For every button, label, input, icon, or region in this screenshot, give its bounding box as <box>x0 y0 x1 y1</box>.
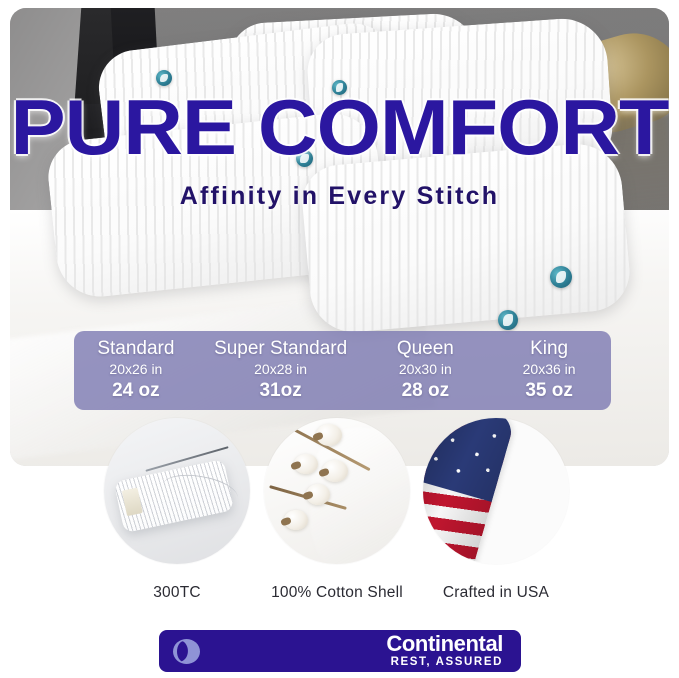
cotton-boll-icon <box>264 418 410 564</box>
flag-shading <box>423 418 516 564</box>
pillow <box>299 140 632 335</box>
pillow-brand-tag-icon <box>156 70 172 86</box>
pillow-brand-tag-icon <box>332 80 347 95</box>
size-dimensions: 20x30 in <box>365 359 485 379</box>
feature-label: Crafted in USA <box>423 584 569 602</box>
pillow-brand-tag-icon <box>296 150 313 167</box>
size-name: Standard <box>76 339 196 359</box>
size-option-standard: Standard 20x26 in 24 oz <box>74 339 198 401</box>
size-name: Super Standard <box>200 339 362 359</box>
size-options-bar: Standard 20x26 in 24 oz Super Standard 2… <box>74 331 611 410</box>
size-dimensions: 20x36 in <box>489 359 609 379</box>
cotton-boll <box>316 424 342 446</box>
size-weight: 35 oz <box>489 380 609 402</box>
cotton-boll <box>322 460 348 482</box>
flag-drape <box>423 418 516 564</box>
feature-label: 100% Cotton Shell <box>264 584 410 602</box>
brand-footer-bar: Continental REST, ASSURED <box>159 630 521 672</box>
feature-item-cotton-shell: 100% Cotton Shell <box>264 418 410 602</box>
size-dimensions: 20x26 in <box>76 359 196 379</box>
brand-tagline: REST, ASSURED <box>386 655 503 670</box>
cotton-boll <box>306 484 330 505</box>
feature-item-made-in-usa: Crafted in USA <box>423 418 569 602</box>
spool-label <box>122 487 143 516</box>
cotton-boll <box>284 510 308 530</box>
size-weight: 28 oz <box>365 380 485 402</box>
pillow-brand-tag-icon <box>498 310 518 330</box>
size-option-queen: Queen 20x30 in 28 oz <box>363 339 487 401</box>
cotton-boll <box>294 454 318 474</box>
usa-flag-icon <box>423 418 569 564</box>
size-option-super-standard: Super Standard 20x28 in 31oz <box>198 339 364 401</box>
feature-row: 300TC 100% Cotton Shell Crafted in USA <box>0 418 679 598</box>
size-option-king: King 20x36 in 35 oz <box>487 339 611 401</box>
size-weight: 31oz <box>200 380 362 402</box>
pillow-brand-tag-icon <box>550 266 572 288</box>
brand-text-block: Continental REST, ASSURED <box>386 632 503 670</box>
size-dimensions: 20x28 in <box>200 359 362 379</box>
feature-item-thread-count: 300TC <box>104 418 250 602</box>
brand-name: Continental <box>386 632 503 655</box>
size-weight: 24 oz <box>76 380 196 402</box>
thread-spool-icon <box>104 418 250 564</box>
feature-label: 300TC <box>104 584 250 602</box>
continental-circle-logo-icon <box>173 639 200 664</box>
size-name: Queen <box>365 339 485 359</box>
size-name: King <box>489 339 609 359</box>
